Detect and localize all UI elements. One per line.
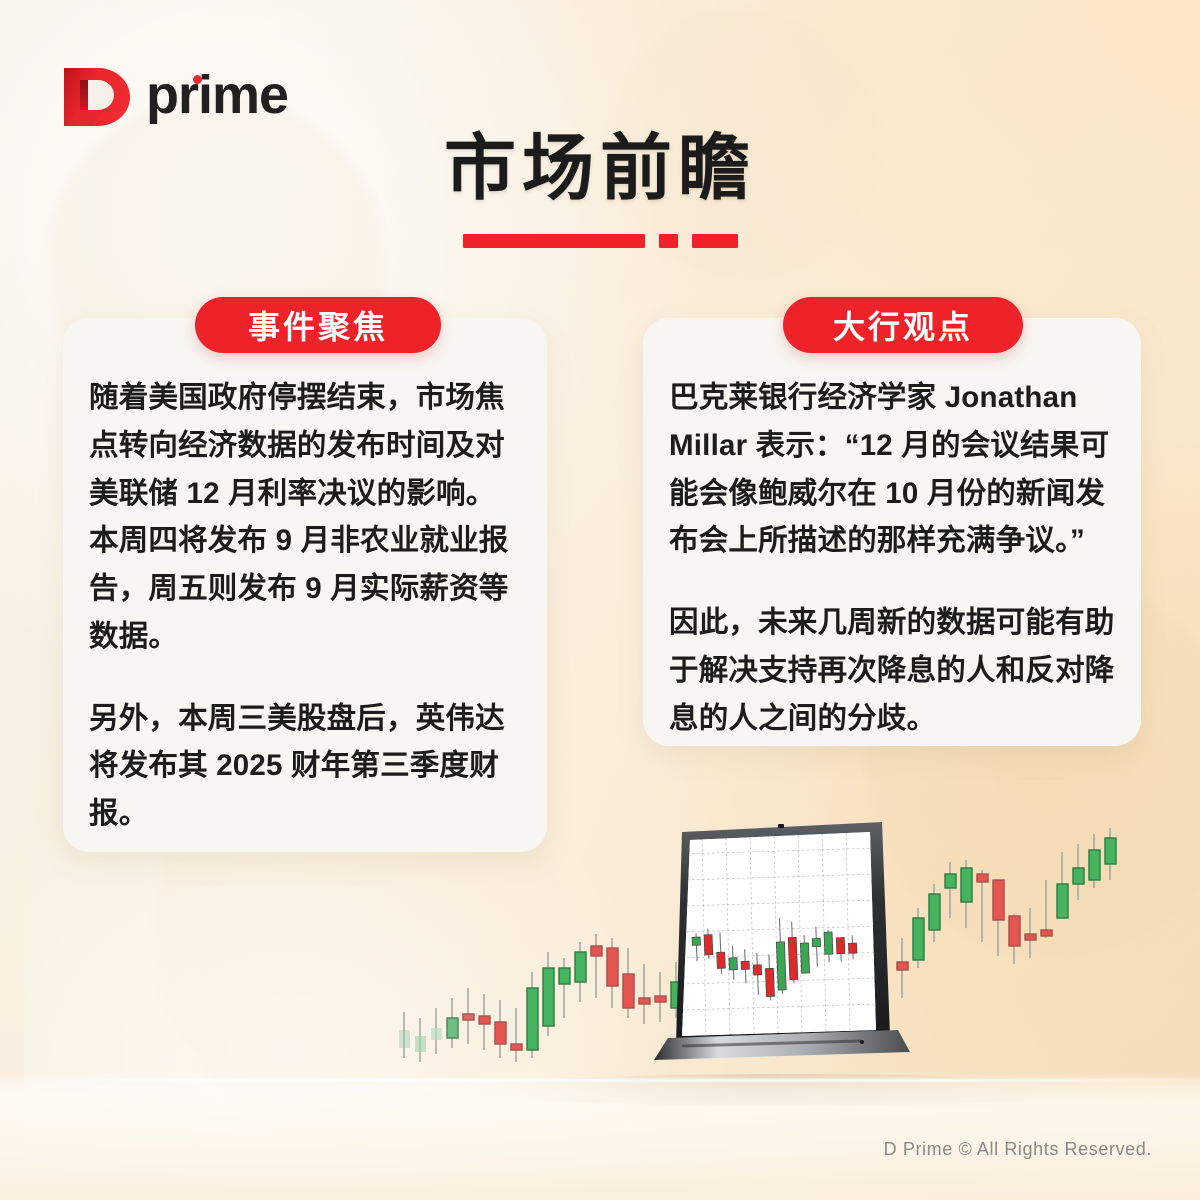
- card-bank-view: 巴克莱银行经济学家 Jonathan Millar 表示：“12 月的会议结果可…: [643, 318, 1141, 746]
- card-event-focus-body: 随着美国政府停摆结束，市场焦点转向经济数据的发布时间及对美联储 12 月利率决议…: [63, 318, 547, 858]
- poster-canvas: prime 市场前瞻 随着美国政府停摆结束，市场焦点转向经济数据的发布时间及对美…: [0, 0, 1200, 1200]
- card-event-focus: 随着美国政府停摆结束，市场焦点转向经济数据的发布时间及对美联储 12 月利率决议…: [63, 318, 547, 852]
- desk-surface: [0, 1072, 1200, 1200]
- brand-wordmark: prime: [146, 68, 288, 122]
- paragraph: 另外，本周三美股盘后，英伟达将发布其 2025 财年第三季度财报。: [89, 695, 517, 838]
- brand-wordmark-text: prime: [146, 65, 288, 125]
- badge-bank-view: 大行观点: [783, 297, 1023, 353]
- footer-copyright: D Prime © All Rights Reserved.: [884, 1139, 1152, 1160]
- title-divider: [0, 234, 1200, 248]
- divider-segment-mid: [692, 234, 738, 248]
- badge-event-focus: 事件聚焦: [195, 297, 441, 353]
- page-title-block: 市场前瞻: [0, 132, 1200, 248]
- paragraph: 因此，未来几周新的数据可能有助于解决支持再次降息的人和反对降息的人之间的分歧。: [669, 599, 1117, 742]
- divider-segment-dot: [659, 234, 678, 248]
- brand-logo: prime: [58, 58, 288, 132]
- paragraph: 随着美国政府停摆结束，市场焦点转向经济数据的发布时间及对美联储 12 月利率决议…: [89, 374, 517, 661]
- badge-event-focus-label: 事件聚焦: [248, 302, 388, 348]
- d-monogram-icon: [58, 58, 132, 132]
- i-dot-accent-icon: [193, 75, 202, 84]
- paragraph: 巴克莱银行经济学家 Jonathan Millar 表示：“12 月的会议结果可…: [669, 374, 1117, 565]
- page-title: 市场前瞻: [0, 132, 1200, 208]
- laptop: [654, 822, 910, 1060]
- divider-segment-long: [463, 234, 645, 248]
- badge-bank-view-label: 大行观点: [833, 302, 973, 348]
- card-bank-view-body: 巴克莱银行经济学家 Jonathan Millar 表示：“12 月的会议结果可…: [643, 318, 1141, 762]
